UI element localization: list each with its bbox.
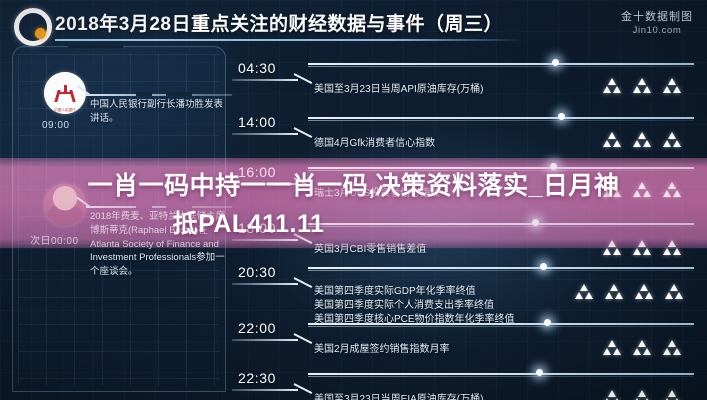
timeline: 04:30 美国至3月23日当周API原油库存(万桶) 14:00 德国4月Gf… (232, 52, 694, 398)
row-time: 04:30 (238, 60, 276, 76)
row-time-underline (232, 239, 298, 241)
row-glow-node (544, 319, 551, 326)
star-cluster-icon (602, 340, 622, 355)
header: 2018年3月28日重点关注的财经数据与事件（周三） 金十数据制图 Jin10.… (0, 0, 707, 50)
row-rail-secondary (308, 270, 694, 271)
row-time: 16:00 (238, 164, 276, 180)
row-label: 美国第四季度实际GDP年化季率终值 (314, 284, 476, 299)
event-text: 中国人民银行副行长潘功胜发表讲话。 (90, 98, 230, 126)
row-rail-secondary (308, 376, 694, 377)
star-cluster-icon (602, 240, 622, 255)
connector-notch (166, 92, 192, 96)
star-cluster-icon (662, 132, 682, 147)
row-rail (308, 223, 694, 225)
connector-notch (136, 204, 152, 208)
portrait-shape (44, 184, 86, 226)
poster-root: 2018年3月28日重点关注的财经数据与事件（周三） 金十数据制图 Jin10.… (0, 0, 707, 400)
row-label: 德国4月Gfk消费者信心指数 (314, 136, 435, 151)
brand-url: Jin10.com (621, 25, 693, 38)
star-cluster-icon (662, 78, 682, 93)
star-cluster-icon (662, 182, 682, 197)
star-cluster-icon (664, 284, 684, 299)
row-time-underline (232, 339, 298, 341)
star-cluster-icon (632, 390, 652, 400)
importance-stars (602, 340, 682, 355)
star-cluster-icon (632, 78, 652, 93)
star-cluster-icon (662, 340, 682, 355)
row-time-underline (232, 389, 298, 391)
row-label: 美国至3月23日当周EIA原油库存(万桶) (314, 392, 483, 400)
event-connector (86, 206, 232, 208)
row-label: 美国2月成屋签约销售指数月率 (314, 342, 450, 357)
pboc-emblem-shape: 中国人民银行 (44, 72, 86, 114)
row-rail (308, 167, 694, 169)
row-label: 美国至3月23日当周API原油库存(万桶) (314, 82, 483, 97)
importance-stars (602, 132, 682, 147)
row-label: 英国3月CBI零售销售差值 (314, 242, 426, 257)
logo-dot-shape (35, 28, 46, 39)
brand-credit: 金十数据制图 Jin10.com (621, 10, 693, 38)
event-time: 次日00:00 (30, 232, 79, 247)
row-time: 22:00 (238, 320, 276, 336)
row-time: 18:00 (238, 220, 276, 236)
row-time-underline (232, 79, 298, 81)
star-cluster-icon (632, 340, 652, 355)
row-rail (308, 323, 694, 325)
row-rail (308, 117, 694, 119)
row-time: 20:30 (238, 264, 276, 280)
jin10-ring-logo-icon (14, 8, 48, 42)
row-time-underline (232, 183, 298, 185)
row-glow-node (540, 263, 547, 270)
connector-notch (166, 204, 192, 208)
row-rail-secondary (308, 120, 694, 121)
importance-stars (574, 284, 684, 299)
row-rail-secondary (308, 66, 694, 67)
row-label: 美国第四季度实际个人消费支出季率终值 (314, 298, 494, 313)
pboc-emblem-icon: 中国人民银行 (44, 72, 86, 114)
event-time: 09:00 (42, 120, 70, 131)
importance-stars (602, 390, 682, 400)
brand-name-cn: 金十数据制图 (621, 10, 693, 25)
star-cluster-icon (632, 132, 652, 147)
star-cluster-icon (634, 284, 654, 299)
row-rail (308, 267, 694, 269)
row-glow-node (558, 113, 565, 120)
left-events-panel: 中国人民银行 09:00 中国人民银行副行长潘功胜发表讲话。 次日00:00 2… (12, 46, 226, 392)
star-cluster-icon (602, 132, 622, 147)
row-rail-secondary (308, 326, 694, 327)
event-text: 2018年费麦、亚特兰大联储主席博斯蒂克(Raphael Bostic)在Atl… (90, 210, 230, 279)
importance-stars (602, 78, 682, 93)
row-label: 瑞士3月UBS投资者信心指数 (314, 186, 440, 201)
star-cluster-icon (602, 182, 622, 197)
event-connector (86, 94, 232, 96)
row-glow-node (536, 369, 543, 376)
star-cluster-icon (632, 182, 652, 197)
speaker-portrait-icon (44, 184, 86, 226)
importance-stars (602, 182, 682, 197)
row-rail-secondary (308, 226, 694, 227)
row-glow-node (532, 219, 539, 226)
row-time-underline (232, 283, 298, 285)
row-rail-secondary (308, 170, 694, 171)
row-glow-node (552, 59, 559, 66)
pboc-mark-glyph (55, 85, 75, 102)
row-glow-node (550, 163, 557, 170)
connector-notch (136, 92, 152, 96)
pboc-emblem-caption: 中国人民银行 (44, 107, 86, 112)
row-rail (308, 63, 694, 65)
importance-stars (602, 240, 682, 255)
star-cluster-icon (662, 240, 682, 255)
row-time: 14:00 (238, 114, 276, 130)
star-cluster-icon (602, 390, 622, 400)
star-cluster-icon (574, 284, 594, 299)
page-title: 2018年3月28日重点关注的财经数据与事件（周三） (55, 9, 503, 36)
star-cluster-icon (662, 390, 682, 400)
logo-ring-shape (14, 8, 52, 46)
row-time: 22:30 (238, 370, 276, 386)
row-time-underline (232, 133, 298, 135)
star-cluster-icon (604, 284, 624, 299)
star-cluster-icon (602, 78, 622, 93)
row-rail (308, 373, 694, 375)
title-underline (55, 39, 525, 41)
star-cluster-icon (632, 240, 652, 255)
